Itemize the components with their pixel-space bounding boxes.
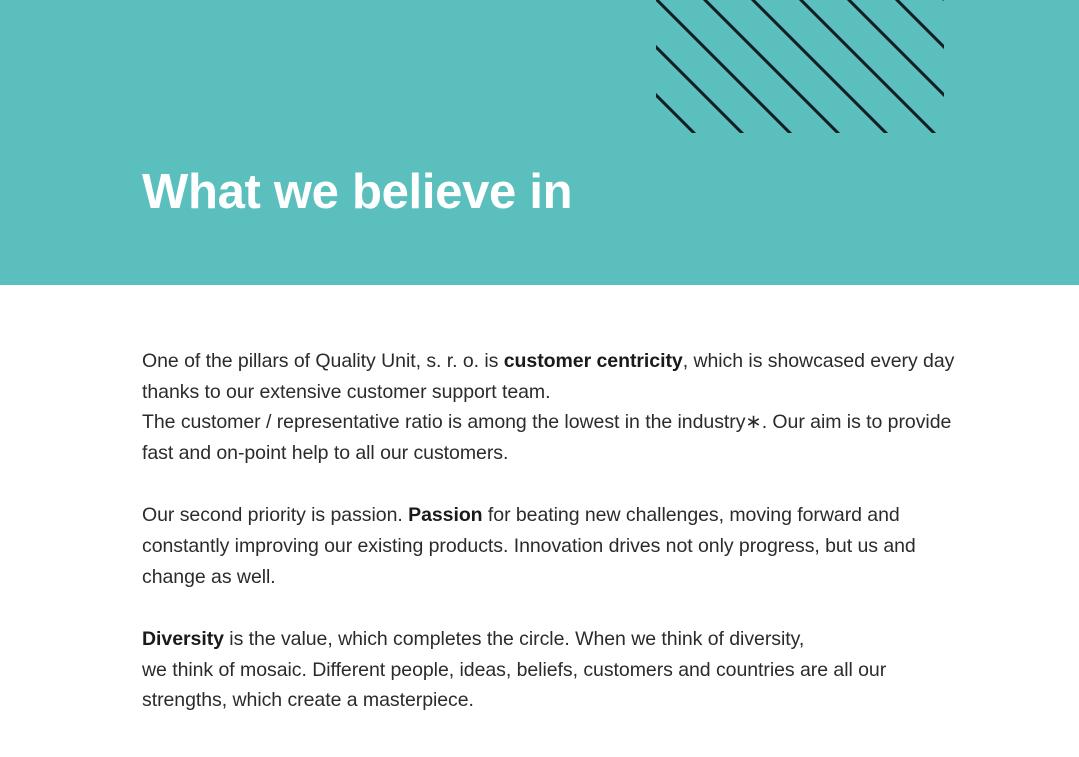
text-run: Our second priority is passion. [142, 504, 408, 526]
diagonal-stripes-decoration [656, 0, 944, 133]
paragraph-diversity: Diversity is the value, which completes … [142, 624, 972, 716]
text-run: One of the pillars of Quality Unit, s. r… [142, 350, 504, 372]
page-title: What we believe in [142, 163, 572, 221]
text-run-bold: customer centricity [504, 350, 683, 372]
hero-header: What we believe in [0, 0, 1079, 285]
text-run: is the value, which completes the circle… [224, 628, 804, 650]
text-run: we think of mosaic. Different people, id… [142, 659, 886, 712]
diagonal-stripes-icon [656, 0, 944, 133]
paragraph-customer-centricity: One of the pillars of Quality Unit, s. r… [142, 346, 972, 468]
paragraph-line: The customer / representative ratio is a… [142, 407, 972, 468]
paragraph-passion: Our second priority is passion. Passion … [142, 500, 972, 592]
paragraph-line: One of the pillars of Quality Unit, s. r… [142, 346, 972, 407]
text-run-bold: Diversity [142, 628, 224, 650]
paragraph-line: Diversity is the value, which completes … [142, 624, 972, 655]
text-run-bold: Passion [408, 504, 482, 526]
text-run: The customer / representative ratio is a… [142, 411, 951, 464]
content-body: One of the pillars of Quality Unit, s. r… [142, 346, 972, 716]
paragraph-line: we think of mosaic. Different people, id… [142, 655, 972, 716]
